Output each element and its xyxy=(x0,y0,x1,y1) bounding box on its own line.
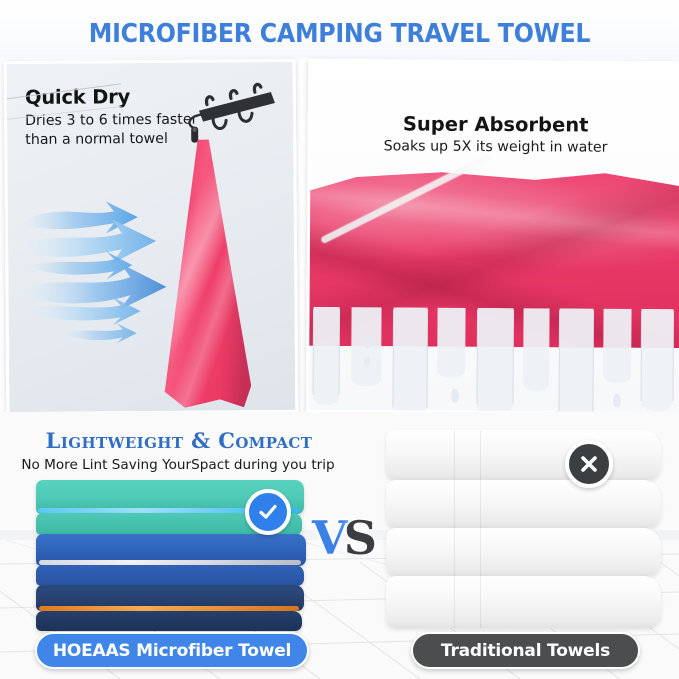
towel-seam xyxy=(454,528,455,576)
white-towel xyxy=(386,480,661,528)
airflow-arrows-icon xyxy=(10,181,181,357)
header-banner: MICROFIBER CAMPING TRAVEL TOWEL xyxy=(0,0,679,58)
towel-seam xyxy=(454,430,455,480)
super-absorbent-title: Super Absorbent xyxy=(311,112,679,137)
product-infographic: MICROFIBER CAMPING TRAVEL TOWEL Quick Dr… xyxy=(0,0,679,679)
traditional-towel-stack xyxy=(386,430,671,630)
panel-super-absorbent: Super Absorbent Soaks up 5X its weight i… xyxy=(306,59,679,415)
page-title: MICROFIBER CAMPING TRAVEL TOWEL xyxy=(24,19,655,49)
towel-seam xyxy=(480,480,481,528)
white-towel xyxy=(386,576,661,628)
comparison-title: Lightweight & Compact xyxy=(14,428,344,453)
panel-quick-dry: Quick Dry Dries 3 to 6 times faster than… xyxy=(4,59,299,415)
towel-seam xyxy=(454,576,455,628)
towel-dark-navy xyxy=(36,611,302,631)
close-icon xyxy=(578,453,600,475)
water-drips xyxy=(306,307,679,415)
versus-label: VS xyxy=(312,515,373,561)
towel-seam xyxy=(480,528,481,576)
versus-v: V xyxy=(312,511,344,565)
carabiner-clip-icon xyxy=(191,127,198,143)
wall-hook-rack-icon xyxy=(183,70,294,151)
comparison-subtitle: No More Lint Saving YourSpact during you… xyxy=(8,457,348,473)
check-icon xyxy=(257,501,279,523)
towel-seam xyxy=(454,480,455,528)
towel-royal-blue-lower xyxy=(36,565,304,586)
versus-s: S xyxy=(344,511,373,565)
label-traditional-towels: Traditional Towels xyxy=(411,632,640,669)
check-badge xyxy=(245,489,291,535)
white-towel xyxy=(386,430,661,480)
towel-seam xyxy=(480,430,481,480)
super-absorbent-subtitle: Soaks up 5X its weight in water xyxy=(311,138,679,156)
white-towel xyxy=(386,528,661,576)
towel-seam xyxy=(480,576,481,628)
x-badge xyxy=(565,440,613,488)
label-hoeaas-towel: HOEAAS Microfiber Towel xyxy=(35,632,309,669)
